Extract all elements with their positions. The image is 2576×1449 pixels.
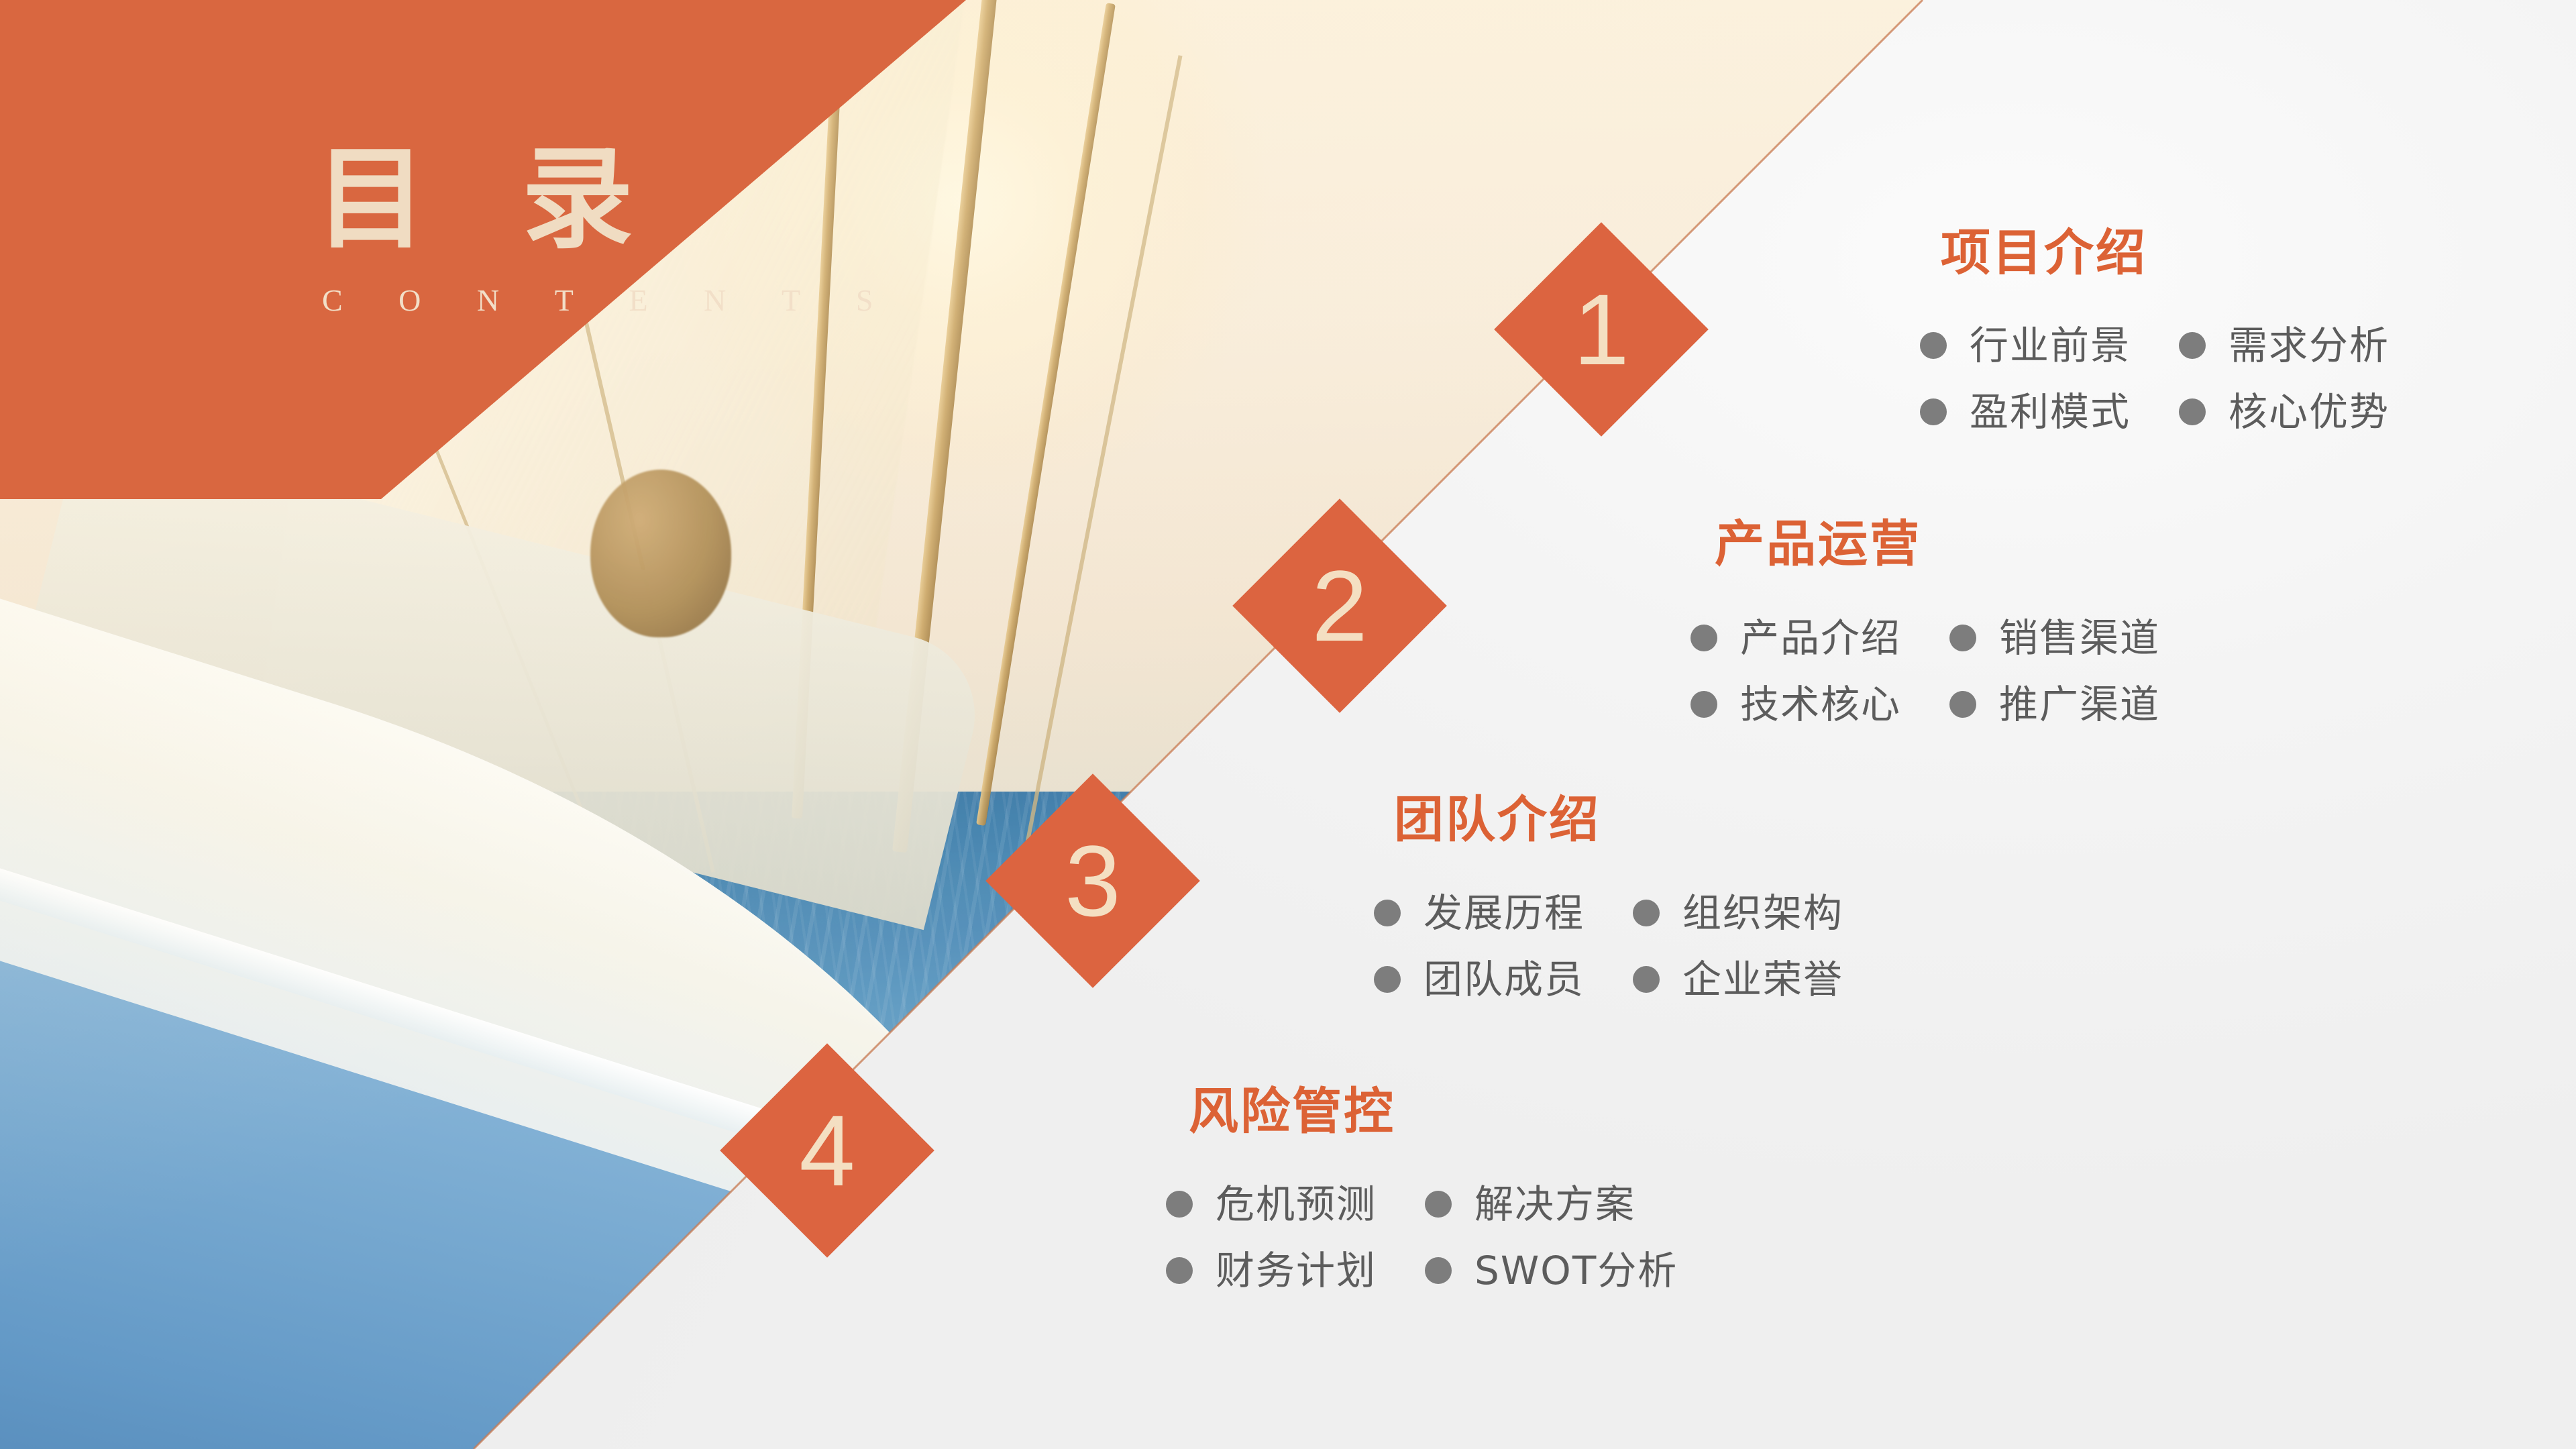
bullet-icon bbox=[1690, 625, 1717, 651]
list-item-label: 产品介绍 bbox=[1740, 616, 1901, 661]
section-3-items: 发展历程 组织架构 团队成员 企业荣誉 bbox=[1374, 891, 1843, 1002]
bullet-icon bbox=[1633, 966, 1660, 993]
section-1-items: 行业前景 需求分析 盈利模式 核心优势 bbox=[1920, 323, 2390, 434]
bullet-icon bbox=[1425, 1257, 1452, 1284]
bullet-icon bbox=[1166, 1257, 1193, 1284]
list-item-label: 财务计划 bbox=[1216, 1248, 1377, 1293]
page-title: 目 录 bbox=[315, 144, 919, 256]
list-item[interactable]: 危机预测 bbox=[1166, 1182, 1377, 1227]
list-item[interactable]: 盈利模式 bbox=[1920, 390, 2131, 435]
list-item[interactable]: 核心优势 bbox=[2179, 390, 2390, 435]
list-item[interactable]: 组织架构 bbox=[1633, 891, 1843, 936]
bullet-icon bbox=[1166, 1191, 1193, 1218]
bullet-icon bbox=[1949, 625, 1976, 651]
list-item-label: 解决方案 bbox=[1474, 1182, 1635, 1227]
bullet-icon bbox=[1920, 332, 1947, 359]
list-item[interactable]: 产品介绍 bbox=[1690, 616, 1901, 661]
list-item-label: 盈利模式 bbox=[1970, 390, 2131, 435]
list-item[interactable]: SWOT分析 bbox=[1425, 1248, 1678, 1293]
section-2-items: 产品介绍 销售渠道 技术核心 推广渠道 bbox=[1690, 616, 2160, 727]
page-subtitle: C O N T E N T S bbox=[322, 285, 919, 316]
section-2-title: 产品运营 bbox=[1715, 519, 1921, 569]
list-item-label: 需求分析 bbox=[2229, 323, 2390, 368]
list-item[interactable]: 技术核心 bbox=[1690, 682, 1901, 727]
list-item[interactable]: 需求分析 bbox=[2179, 323, 2390, 368]
bullet-icon bbox=[1425, 1191, 1452, 1218]
photo-fender bbox=[590, 470, 731, 637]
list-item-label: 组织架构 bbox=[1682, 891, 1843, 936]
list-item-label: 技术核心 bbox=[1740, 682, 1901, 727]
bullet-icon bbox=[2179, 332, 2206, 359]
list-item[interactable]: 解决方案 bbox=[1425, 1182, 1678, 1227]
photo-mast-3 bbox=[976, 3, 1116, 826]
list-item[interactable]: 行业前景 bbox=[1920, 323, 2131, 368]
bullet-icon bbox=[1920, 398, 1947, 425]
title-block: 目 录 C O N T E N T S bbox=[315, 144, 919, 316]
photo-rigging-2 bbox=[1020, 55, 1182, 872]
list-item-label: 企业荣誉 bbox=[1682, 957, 1843, 1002]
section-4-items: 危机预测 解决方案 财务计划 SWOT分析 bbox=[1166, 1182, 1678, 1293]
list-item[interactable]: 团队成员 bbox=[1374, 957, 1585, 1002]
list-item-label: 核心优势 bbox=[2229, 390, 2390, 435]
section-3-title: 团队介绍 bbox=[1394, 795, 1601, 845]
list-item-label: 危机预测 bbox=[1216, 1182, 1377, 1227]
list-item[interactable]: 财务计划 bbox=[1166, 1248, 1377, 1293]
bullet-icon bbox=[1690, 691, 1717, 718]
contents-slide: 目 录 C O N T E N T S 1 项目介绍 行业前景 需求分析 盈利模… bbox=[0, 0, 2576, 1449]
list-item-label: 销售渠道 bbox=[1999, 616, 2160, 661]
list-item-label: 行业前景 bbox=[1970, 323, 2131, 368]
bullet-icon bbox=[1949, 691, 1976, 718]
section-4-title: 风险管控 bbox=[1189, 1087, 1395, 1136]
list-item-label: 推广渠道 bbox=[1999, 682, 2160, 727]
list-item[interactable]: 发展历程 bbox=[1374, 891, 1585, 936]
list-item-label: SWOT分析 bbox=[1474, 1248, 1678, 1293]
list-item[interactable]: 销售渠道 bbox=[1949, 616, 2160, 661]
list-item[interactable]: 推广渠道 bbox=[1949, 682, 2160, 727]
list-item-label: 发展历程 bbox=[1424, 891, 1585, 936]
list-item-label: 团队成员 bbox=[1424, 957, 1585, 1002]
bullet-icon bbox=[1374, 900, 1401, 926]
bullet-icon bbox=[1374, 966, 1401, 993]
bullet-icon bbox=[1633, 900, 1660, 926]
list-item[interactable]: 企业荣誉 bbox=[1633, 957, 1843, 1002]
section-1-title: 项目介绍 bbox=[1941, 228, 2147, 278]
bullet-icon bbox=[2179, 398, 2206, 425]
